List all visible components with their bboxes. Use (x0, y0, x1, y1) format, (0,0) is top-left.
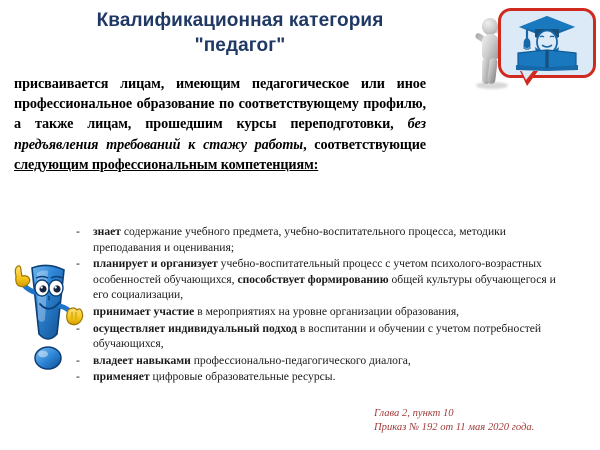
mascot-right-pupil (53, 285, 60, 292)
blue-exclamation-mark-mascot-icon (10, 262, 86, 378)
list-item-lead: осуществляет индивидуальный подход (93, 322, 297, 335)
intro-underlined-clause: следующим профессиональным компетенциям: (14, 155, 426, 175)
figure-torso (482, 34, 499, 60)
figure-right-leg (487, 58, 498, 85)
list-item-rest: в мероприятиях на уровне организации обр… (194, 305, 459, 318)
graduate-with-book-icon (515, 13, 579, 71)
page-title: Квалификационная категория "педагог" (30, 8, 450, 58)
mascot-open-hand (67, 308, 83, 325)
bullet-dash-icon: - (76, 224, 80, 240)
speech-bubble-tail-inner (521, 70, 534, 80)
mascot-dot (35, 347, 61, 369)
list-item-rest: цифровые образовательные ресурсы. (150, 370, 336, 383)
list-item-lead: применяет (93, 370, 150, 383)
list-item: - применяет цифровые образовательные рес… (74, 369, 574, 385)
list-item-rest: содержание учебного предмета, учебно-вос… (93, 225, 506, 254)
mascot-pointing-hand (15, 266, 29, 287)
list-item-lead: планирует и организует (93, 257, 218, 270)
list-item-rest: профессионально-педагогического диалога, (191, 354, 411, 367)
header-illustration (462, 0, 600, 92)
competency-list: - знает содержание учебного предмета, уч… (74, 224, 574, 386)
list-item: - владеет навыками профессионально-педаг… (74, 353, 574, 369)
mascot-dot-highlight (38, 351, 48, 358)
citation-line-2: Приказ № 192 от 11 мая 2020 года. (374, 421, 534, 435)
figure-head (482, 18, 498, 35)
intro-part-3: , соответствующие (303, 137, 426, 153)
source-citation: Глава 2, пункт 10 Приказ № 192 от 11 мая… (374, 407, 534, 434)
title-line-1: Квалификационная категория (97, 10, 384, 31)
list-item: - осуществляет индивидуальный подход в в… (74, 321, 574, 352)
mascot-left-eye-glint (40, 286, 42, 288)
mascot-left-pupil (39, 285, 46, 292)
list-item-lead-2: способствует формированию (237, 273, 388, 286)
list-item-lead: владеет навыками (93, 354, 191, 367)
intro-part-1: присваивается лицам, имеющим педагогичес… (14, 76, 426, 132)
list-item: - принимает участие в мероприятиях на ур… (74, 304, 574, 320)
list-item-lead: принимает участие (93, 305, 194, 318)
list-item-lead: знает (93, 225, 121, 238)
intro-paragraph: присваивается лицам, имеющим педагогичес… (14, 74, 426, 175)
title-line-2: "педагог" (30, 33, 450, 58)
citation-line-1: Глава 2, пункт 10 (374, 407, 534, 421)
list-item: - знает содержание учебного предмета, уч… (74, 224, 574, 255)
list-item: - планирует и организует учебно-воспитат… (74, 256, 574, 303)
mascot-right-eye-glint (54, 286, 56, 288)
slide-canvas: Квалификационная категория "педагог" при… (0, 0, 600, 450)
